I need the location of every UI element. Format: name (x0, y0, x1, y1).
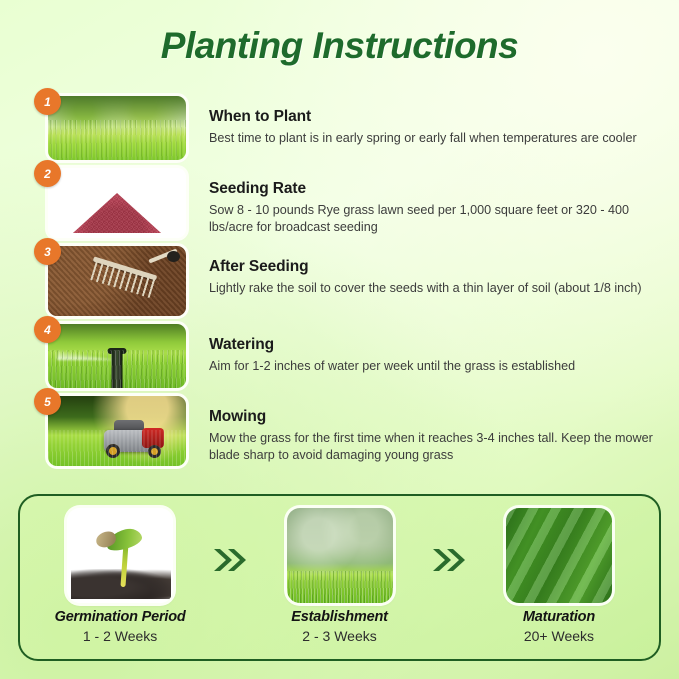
seed-pile-photo (48, 168, 186, 238)
step-body: Sow 8 - 10 pounds Rye grass lawn seed pe… (209, 202, 659, 237)
timeline-stage-duration: 2 - 3 Weeks (253, 628, 425, 644)
step-body: Mow the grass for the first time when it… (209, 430, 659, 465)
double-chevron-right-icon (426, 512, 473, 607)
timeline-stage-label: Germination Period (34, 609, 206, 625)
planting-instructions-infographic: Planting Instructions 1 When to Plant Be… (0, 0, 679, 679)
step-item: 4 Watering Aim for 1-2 inches of water p… (0, 324, 679, 388)
step-item: 2 Seeding Rate Sow 8 - 10 pounds Rye gra… (0, 168, 679, 238)
step-number-badge: 3 (34, 238, 61, 265)
step-item: 5 Mowing Mow the grass for the first tim… (0, 396, 679, 466)
young-grass-art (287, 508, 393, 603)
lawn-mower-photo (48, 396, 186, 466)
step-thumbnail-wrap: 2 (48, 168, 193, 238)
grass-lawn-art (48, 96, 186, 160)
step-body: Aim for 1-2 inches of water per week unt… (209, 358, 659, 375)
step-body: Lightly rake the soil to cover the seeds… (209, 280, 659, 297)
seedling-art (67, 508, 173, 603)
rake-icon (88, 252, 180, 300)
step-number-badge: 5 (34, 388, 61, 415)
timeline-stage-germination: Germination Period 1 - 2 Weeks (34, 508, 206, 644)
sprinkler-art (48, 324, 186, 388)
mature-lawn-art (506, 508, 612, 603)
timeline-stage-label: Maturation (473, 609, 645, 625)
timeline-stage-establishment: Establishment 2 - 3 Weeks (253, 508, 425, 644)
step-item: 1 When to Plant Best time to plant is in… (0, 96, 679, 160)
seed-pile-art (48, 168, 186, 238)
step-body: Best time to plant is in early spring or… (209, 130, 659, 147)
growth-timeline: Germination Period 1 - 2 Weeks Establish… (18, 494, 661, 661)
step-number-badge: 1 (34, 88, 61, 115)
step-heading: Watering (209, 336, 659, 354)
step-text: After Seeding Lightly rake the soil to c… (209, 246, 679, 297)
step-heading: Seeding Rate (209, 180, 659, 198)
step-thumbnail-wrap: 3 (48, 246, 193, 316)
step-item: 3 After Seeding Lightly rake the soil to… (0, 246, 679, 316)
timeline-stage-duration: 1 - 2 Weeks (34, 628, 206, 644)
grass-lawn-photo (48, 96, 186, 160)
timeline-stage-label: Establishment (253, 609, 425, 625)
rake-soil-photo (48, 246, 186, 316)
timeline-stage-duration: 20+ Weeks (473, 628, 645, 644)
step-thumbnail-wrap: 1 (48, 96, 193, 160)
step-text: Mowing Mow the grass for the first time … (209, 396, 679, 465)
step-heading: Mowing (209, 408, 659, 426)
step-number-badge: 4 (34, 316, 61, 343)
step-thumbnail-wrap: 5 (48, 396, 193, 466)
mature-striped-lawn-photo (506, 508, 612, 603)
page-title: Planting Instructions (0, 25, 679, 67)
sprinkler-photo (48, 324, 186, 388)
step-number-badge: 2 (34, 160, 61, 187)
step-thumbnail-wrap: 4 (48, 324, 193, 388)
step-text: Seeding Rate Sow 8 - 10 pounds Rye grass… (209, 168, 679, 237)
timeline-stage-maturation: Maturation 20+ Weeks (473, 508, 645, 644)
step-text: Watering Aim for 1-2 inches of water per… (209, 324, 679, 375)
step-heading: When to Plant (209, 108, 659, 126)
seedling-sprout-photo (67, 508, 173, 603)
step-heading: After Seeding (209, 258, 659, 276)
lawn-mower-art (48, 396, 186, 466)
steps-list: 1 When to Plant Best time to plant is in… (0, 96, 679, 474)
double-chevron-right-icon (206, 512, 253, 607)
young-grass-photo (287, 508, 393, 603)
step-text: When to Plant Best time to plant is in e… (209, 96, 679, 147)
